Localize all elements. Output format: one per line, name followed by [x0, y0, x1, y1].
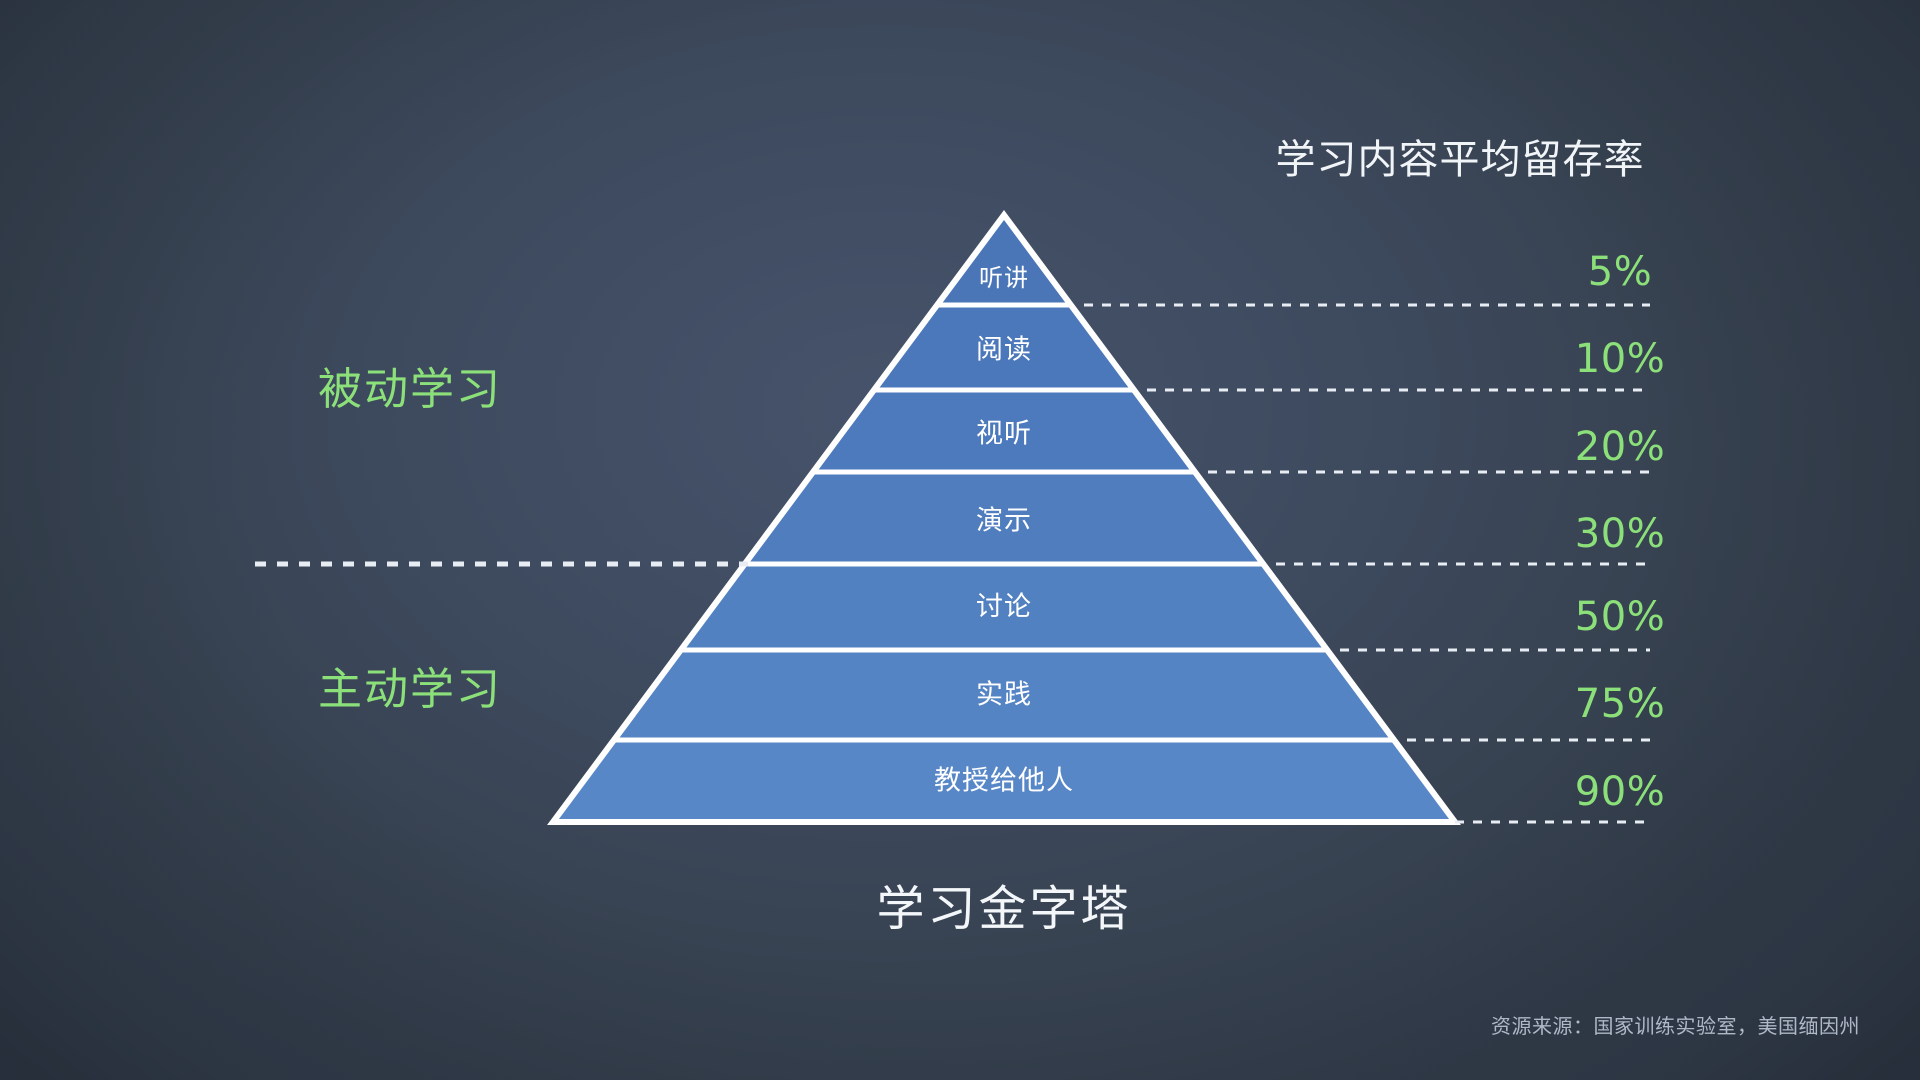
retention-percent-value: 10% [1575, 339, 1665, 379]
pyramid-level-label: 实践 [976, 682, 1032, 709]
pyramid-level-label: 讨论 [976, 594, 1032, 621]
pyramid-level-label: 演示 [976, 508, 1032, 535]
learning-pyramid-slide: 学习内容平均留存率 听讲阅读视听演示讨论实践教授给他人 5%10%20%30%5… [0, 0, 1920, 1080]
pyramid-level-label: 视听 [976, 421, 1032, 448]
pyramid-level-label: 听讲 [979, 266, 1029, 290]
chart-title: 学习金字塔 [0, 885, 1920, 933]
pyramid-level-label: 教授给他人 [934, 768, 1074, 795]
retention-percent-value: 75% [1575, 684, 1665, 724]
retention-percent-value: 30% [1575, 514, 1665, 554]
learning-mode-label: 主动学习 [318, 668, 502, 712]
pyramid-level-label: 阅读 [976, 337, 1032, 364]
source-attribution: 资源来源：国家训练实验室，美国缅因州 [1491, 1016, 1860, 1036]
retention-percent-value: 5% [1588, 252, 1652, 292]
retention-percent-value: 20% [1575, 427, 1665, 467]
retention-percent-value: 50% [1575, 597, 1665, 637]
retention-percent-value: 90% [1575, 772, 1665, 812]
learning-mode-label: 被动学习 [318, 368, 502, 412]
